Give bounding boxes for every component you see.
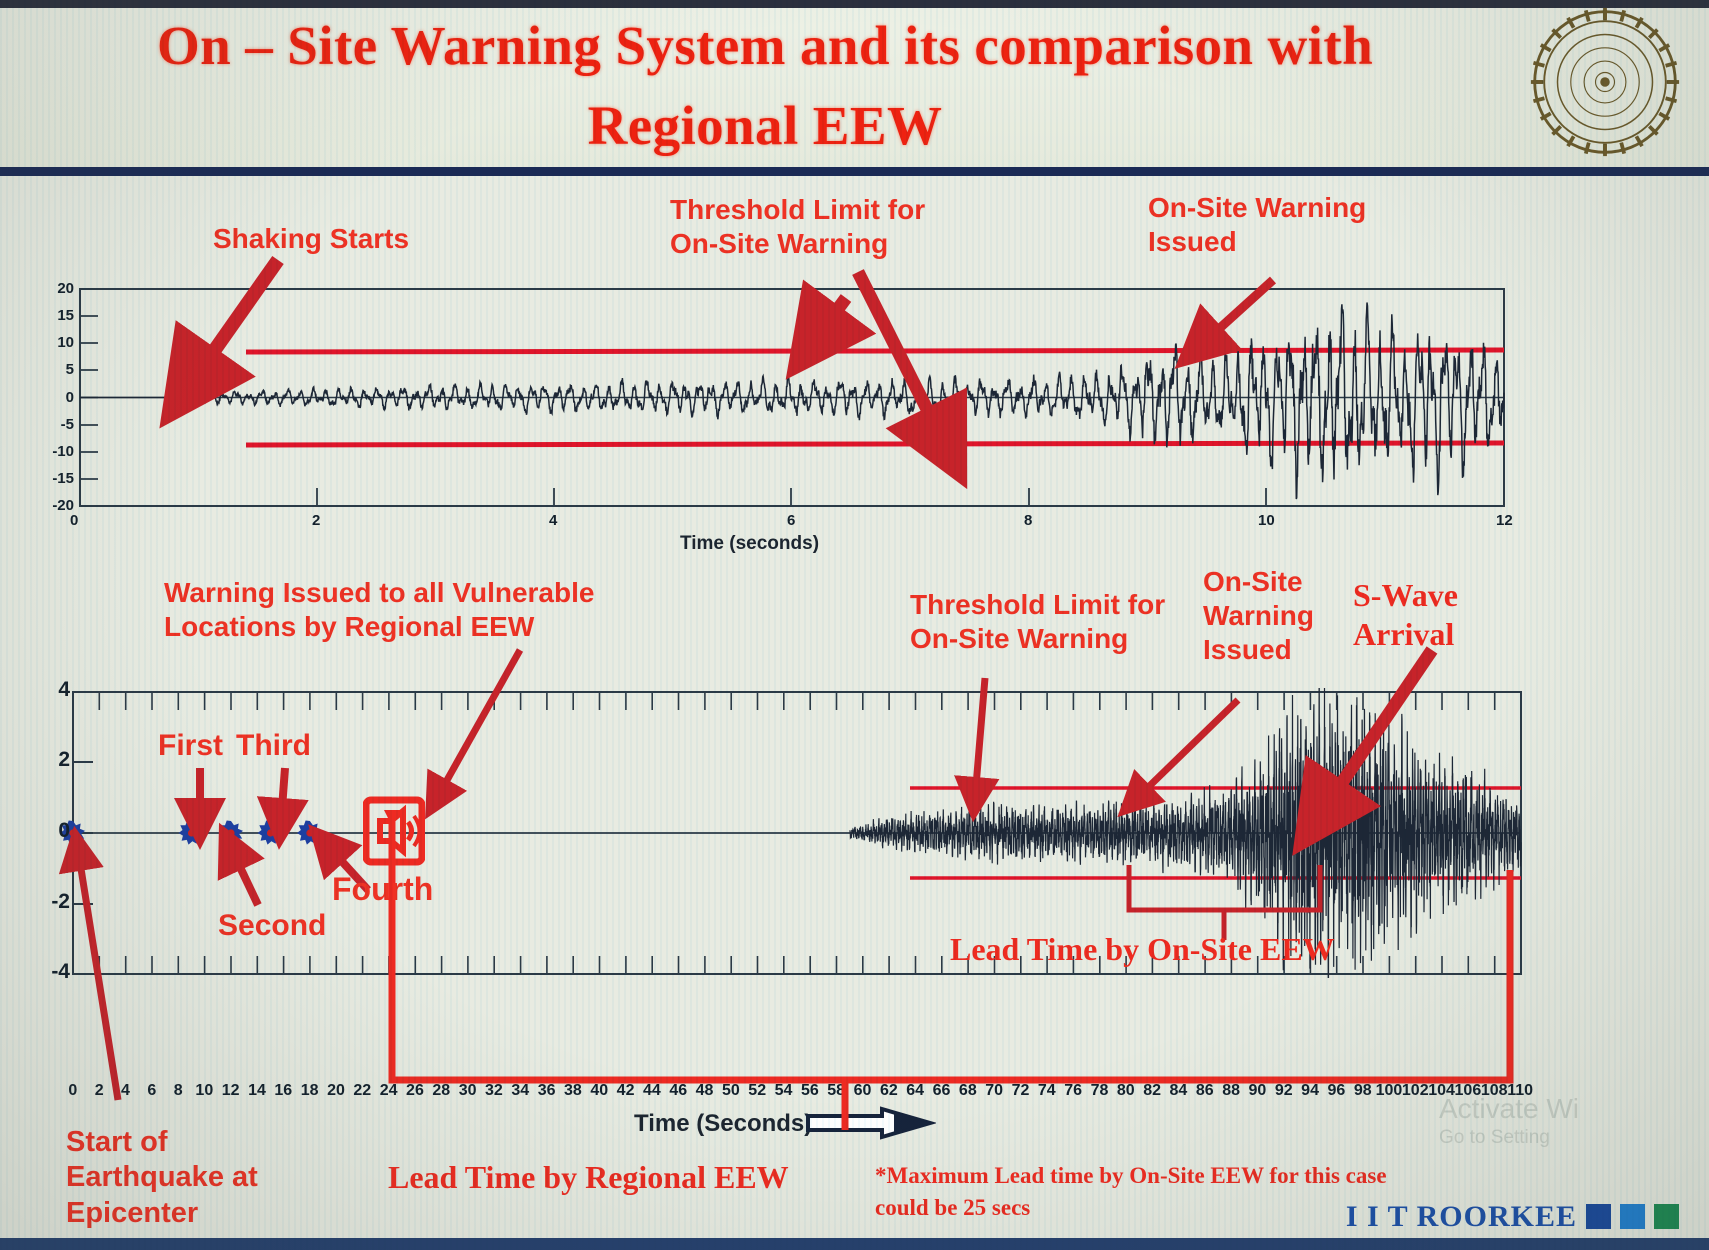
chart1-xaxis-label: Time (seconds)	[680, 533, 819, 555]
annotation-lead-time-regional: Lead Time by Regional EEW	[388, 1158, 789, 1197]
annotation-regional-warning: Warning Issued to all Vulnerable Locatio…	[164, 576, 594, 644]
brand-swatch-1	[1586, 1204, 1611, 1229]
annotation-onsite-issued-bottom: On-Site Warning Issued	[1203, 565, 1314, 667]
annotation-s-wave-arrival: S-Wave Arrival	[1353, 576, 1458, 654]
iit-roorkee-brand: I I T ROORKEE	[1346, 1200, 1679, 1234]
annotation-fourth: Fourth	[332, 870, 433, 909]
slide-header: On – Site Warning System and its compari…	[0, 0, 1709, 176]
annotation-threshold-bottom: Threshold Limit for On-Site Warning	[910, 588, 1165, 656]
brand-swatch-2	[1620, 1204, 1645, 1229]
annotation-lead-time-onsite: Lead Time by On-Site EEW	[950, 930, 1335, 969]
brand-swatch-3	[1654, 1204, 1679, 1229]
annotation-second: Second	[218, 908, 326, 945]
annotation-start-of-earthquake: Start of Earthquake at Epicenter	[66, 1125, 258, 1231]
annotation-footnote: *Maximum Lead time by On-Site EEW for th…	[875, 1160, 1387, 1224]
brand-text: I I T ROORKEE	[1346, 1200, 1577, 1233]
iit-roorkee-emblem-icon	[1529, 6, 1681, 158]
footer-bar	[0, 1238, 1709, 1250]
annotation-third: Third	[236, 728, 311, 765]
annotation-shaking-starts: Shaking Starts	[213, 222, 409, 256]
page-title: On – Site Warning System and its compari…	[150, 6, 1380, 167]
slide-root: On – Site Warning System and its compari…	[0, 0, 1709, 1250]
annotation-first: First	[158, 728, 223, 765]
annotation-threshold-top: Threshold Limit for On-Site Warning	[670, 193, 925, 261]
annotation-onsite-issued-top: On-Site Warning Issued	[1148, 191, 1366, 259]
